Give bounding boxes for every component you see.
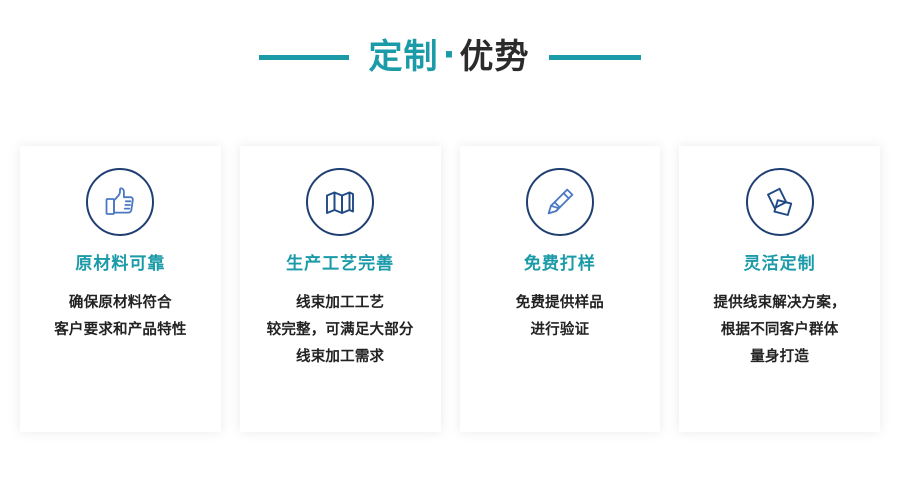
pencil-icon: [526, 168, 594, 236]
heading-main-text: 优势: [459, 40, 529, 74]
description-line: 量身打造: [687, 344, 872, 371]
stacked-sheets-icon: [746, 168, 814, 236]
advantage-card-description: 确保原材料符合 客户要求和产品特性: [20, 290, 221, 344]
description-line: 提供线束解决方案，: [687, 290, 872, 317]
advantage-card-list: 原材料可靠 确保原材料符合 客户要求和产品特性 生产工艺完善 线束加工工艺 较完…: [20, 146, 880, 432]
advantage-card-title: 生产工艺完善: [286, 254, 394, 274]
advantage-card-description: 免费提供样品 进行验证: [460, 290, 661, 344]
description-line: 免费提供样品: [468, 290, 653, 317]
advantage-card-description: 线束加工工艺 较完整，可满足大部分 线束加工需求: [240, 290, 441, 370]
advantage-card[interactable]: 免费打样 免费提供样品 进行验证: [460, 146, 661, 432]
description-line: 客户要求和产品特性: [28, 317, 213, 344]
heading-text-group: 定制 · 优势: [359, 40, 540, 74]
advantage-card[interactable]: 原材料可靠 确保原材料符合 客户要求和产品特性: [20, 146, 221, 432]
heading-separator-dot: ·: [439, 38, 460, 72]
advantage-card-title: 灵活定制: [744, 254, 816, 274]
heading-rule-right: [549, 55, 641, 60]
advantage-card[interactable]: 灵活定制 提供线束解决方案， 根据不同客户群体 量身打造: [679, 146, 880, 432]
thumbs-up-icon: [86, 168, 154, 236]
description-line: 较完整，可满足大部分: [248, 317, 433, 344]
advantage-card[interactable]: 生产工艺完善 线束加工工艺 较完整，可满足大部分 线束加工需求: [240, 146, 441, 432]
folded-map-icon: [306, 168, 374, 236]
description-line: 确保原材料符合: [28, 290, 213, 317]
heading-accent-text: 定制: [369, 40, 439, 74]
description-line: 根据不同客户群体: [687, 317, 872, 344]
advantage-card-description: 提供线束解决方案， 根据不同客户群体 量身打造: [679, 290, 880, 370]
customization-advantages-section: 定制 · 优势 原材料可靠 确保原材料符合 客户要求和产品特性: [0, 0, 900, 499]
description-line: 进行验证: [468, 317, 653, 344]
advantage-card-title: 免费打样: [524, 254, 596, 274]
description-line: 线束加工需求: [248, 344, 433, 371]
section-heading: 定制 · 优势: [0, 28, 900, 86]
advantage-card-title: 原材料可靠: [75, 254, 165, 274]
description-line: 线束加工工艺: [248, 290, 433, 317]
heading-rule-left: [259, 55, 349, 60]
